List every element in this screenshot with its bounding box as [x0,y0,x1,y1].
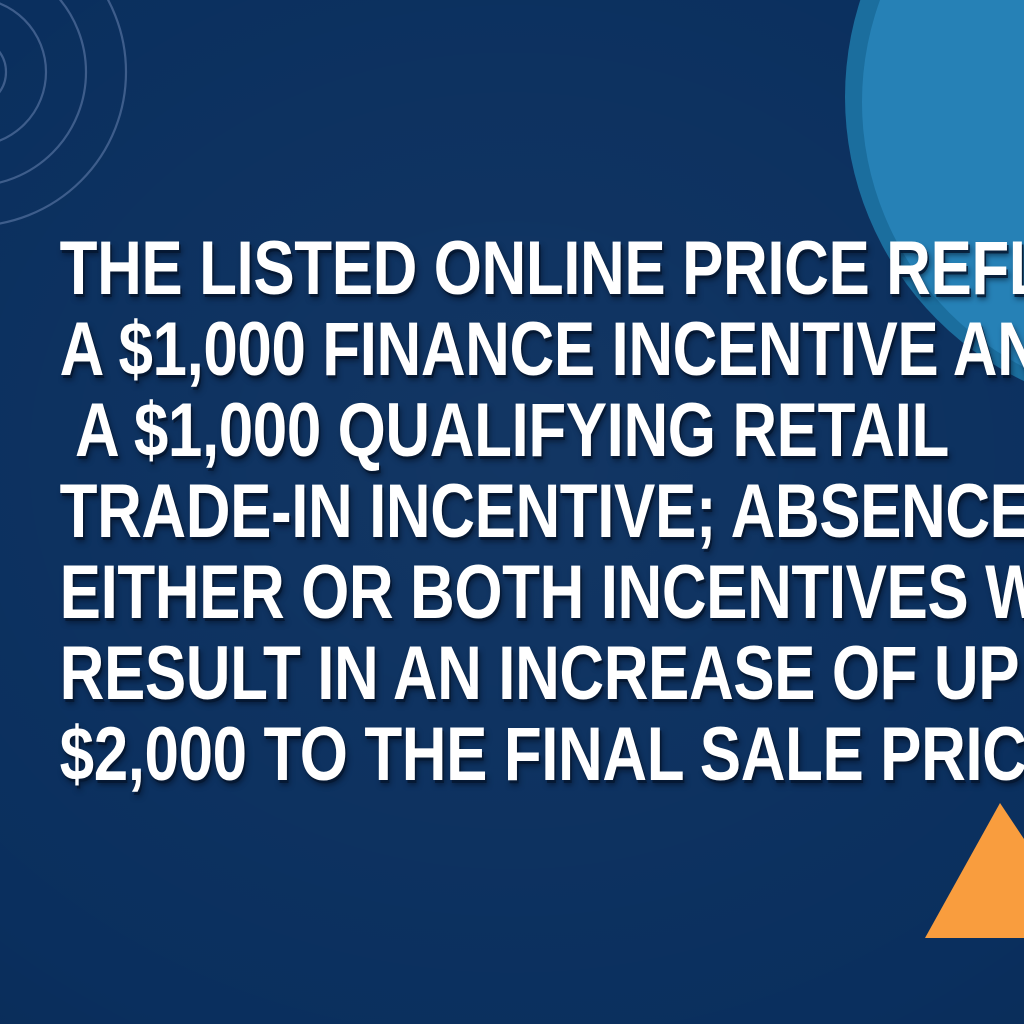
disclaimer-line-1: THE LISTED ONLINE PRICE REFLECTS [60,228,965,309]
disclaimer-line-7: $2,000 TO THE FINAL SALE PRICE. [60,714,965,795]
disclaimer-line-6: RESULT IN AN INCREASE OF UP TO [60,633,965,714]
orange-triangle-decoration [900,795,1024,940]
disclaimer-line-2: A $1,000 FINANCE INCENTIVE AND [60,309,965,390]
disclaimer-text-block: THE LISTED ONLINE PRICE REFLECTS A $1,00… [0,228,1024,795]
disclaimer-graphic-canvas: THE LISTED ONLINE PRICE REFLECTS A $1,00… [0,0,1024,1024]
disclaimer-line-5: EITHER OR BOTH INCENTIVES WILL [60,552,965,633]
disclaimer-line-3: A $1,000 QUALIFYING RETAIL [60,390,965,471]
disclaimer-line-4: TRADE-IN INCENTIVE; ABSENCE OF [60,471,965,552]
